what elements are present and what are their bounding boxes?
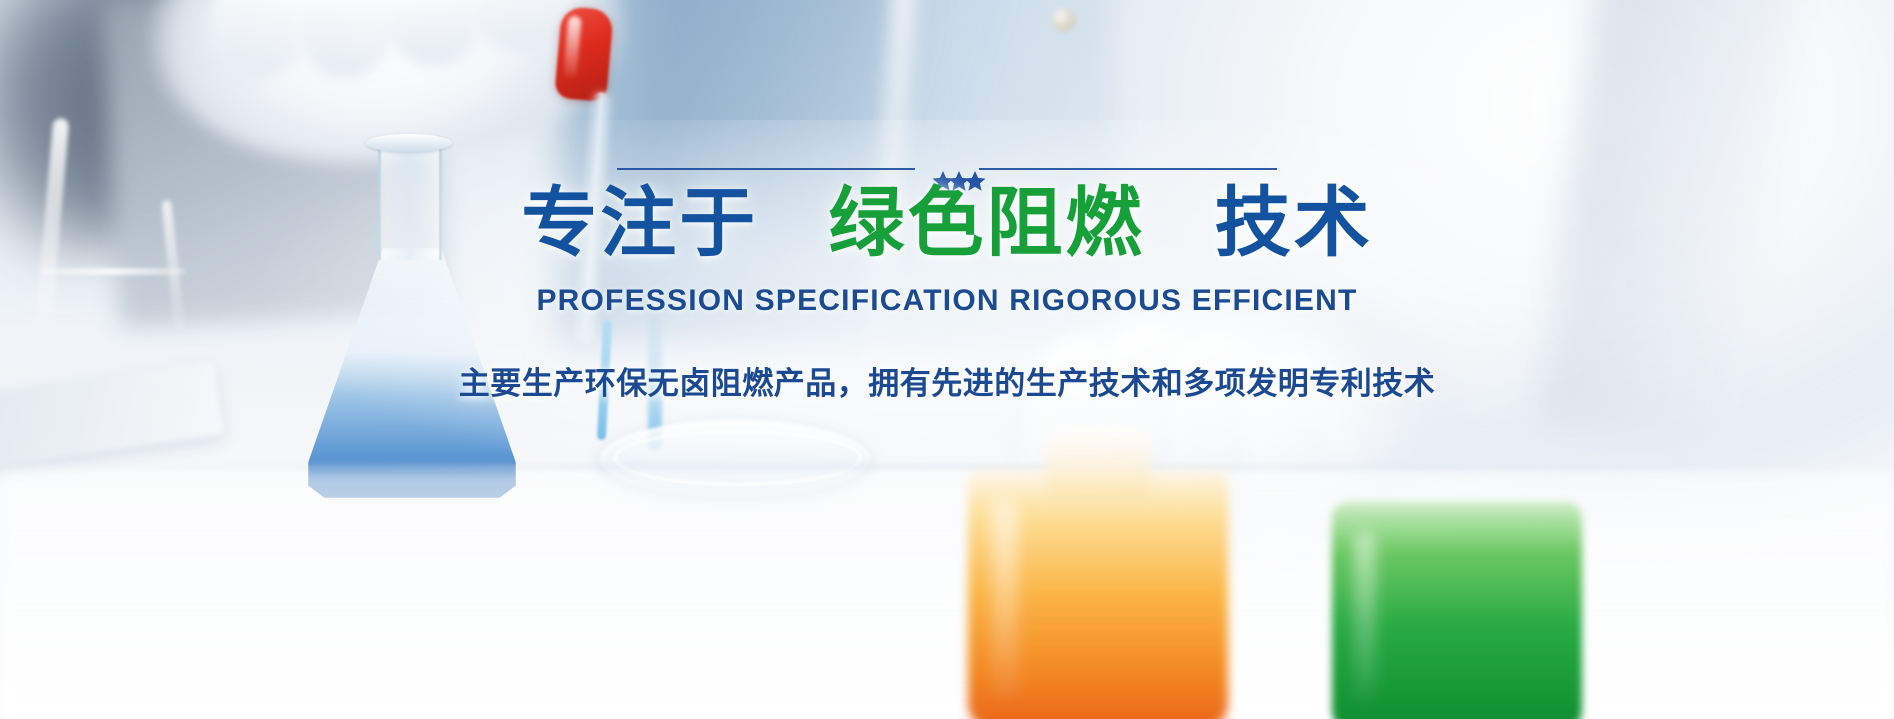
headline-part-3: 技术 [1215,181,1373,266]
subtitle-chinese: 主要生产环保无卤阻燃产品，拥有先进的生产技术和多项发明专利技术 [459,358,1436,403]
subtitle-english: PROFESSION SPECIFICATION RIGOROUS EFFICI… [536,284,1357,318]
divider-with-stars [617,168,1277,170]
divider-line-right [979,168,1277,170]
headline-part-2: 绿色阻燃 [829,181,1145,266]
banner-content: 专注于 绿色阻燃 技术 PROFESSION SPECIFICATION RIG… [0,0,1894,719]
hero-banner: 专注于 绿色阻燃 技术 PROFESSION SPECIFICATION RIG… [0,0,1894,719]
divider-line-left [617,168,915,170]
headline-part-1: 专注于 [521,181,758,266]
page-title: 专注于 绿色阻燃 技术 [521,186,1373,262]
